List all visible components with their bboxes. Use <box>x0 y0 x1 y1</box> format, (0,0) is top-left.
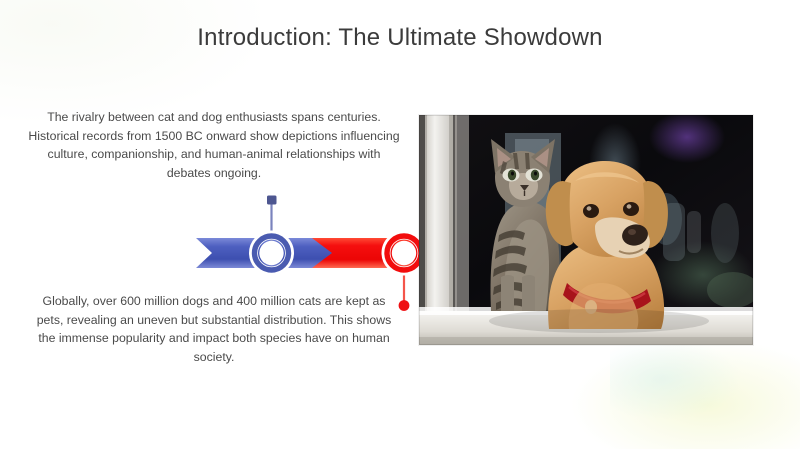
chevron-timeline-graphic <box>180 186 430 316</box>
background-wash-teal <box>610 339 740 419</box>
slide-title: Introduction: The Ultimate Showdown <box>0 24 800 52</box>
paragraph-history: The rivalry between cat and dog enthusia… <box>28 108 400 183</box>
slide-canvas: Introduction: The Ultimate Showdown The … <box>0 0 800 449</box>
cat-and-dog-photo <box>419 115 753 345</box>
photo-dog <box>546 161 668 329</box>
background-wash-top-left <box>0 0 260 120</box>
background-wash-bottom-right <box>570 339 800 449</box>
red-marker <box>386 235 422 311</box>
blue-marker <box>254 196 290 272</box>
